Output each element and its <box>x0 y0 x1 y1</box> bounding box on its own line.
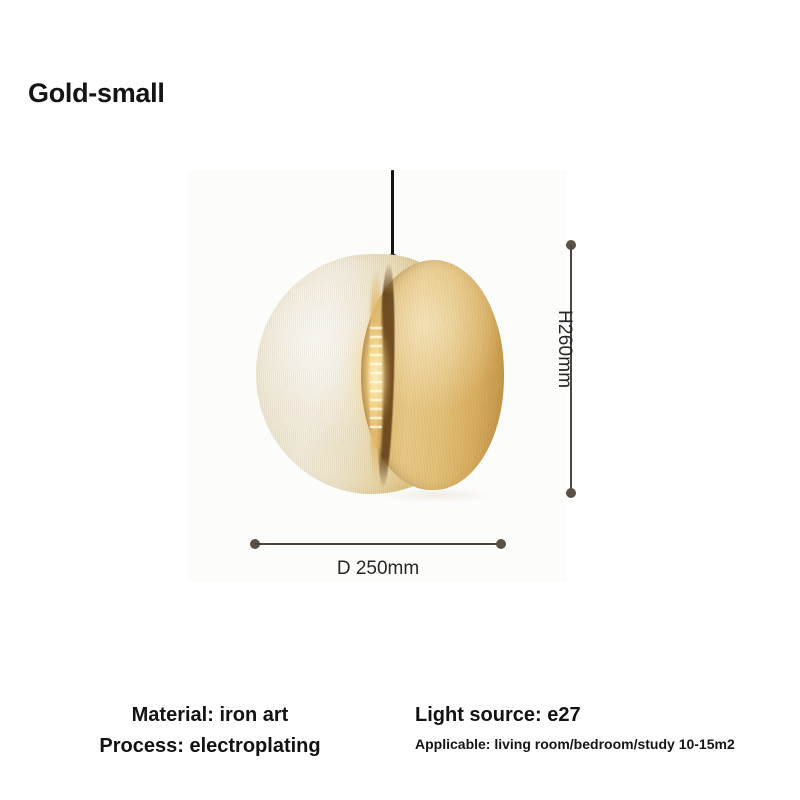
spec-footer: Material: iron art Process: electroplati… <box>0 700 800 780</box>
diameter-dimension-label: D 250mm <box>250 558 506 580</box>
diameter-dimension-dot-right <box>496 539 506 549</box>
spec-process: Process: electroplating <box>60 731 360 762</box>
spec-light-source: Light source: e27 <box>415 700 795 731</box>
spec-material: Material: iron art <box>60 700 360 731</box>
page-title: Gold-small <box>28 78 165 109</box>
pendant-lamp-illustration <box>256 250 504 498</box>
spec-column-left: Material: iron art Process: electroplati… <box>60 700 360 762</box>
height-dimension-label: H260mm <box>553 310 575 388</box>
lamp-cord <box>391 170 394 260</box>
height-dimension-dot-bottom <box>566 488 576 498</box>
bulb-filament <box>370 324 382 428</box>
diameter-dimension-rule <box>255 543 501 545</box>
product-image-panel <box>188 170 567 582</box>
light-bulb <box>369 324 383 428</box>
spec-column-right: Light source: e27 Applicable: living roo… <box>415 700 795 757</box>
diameter-dimension-line <box>250 538 506 550</box>
spec-applicable: Applicable: living room/bedroom/study 10… <box>415 731 795 757</box>
